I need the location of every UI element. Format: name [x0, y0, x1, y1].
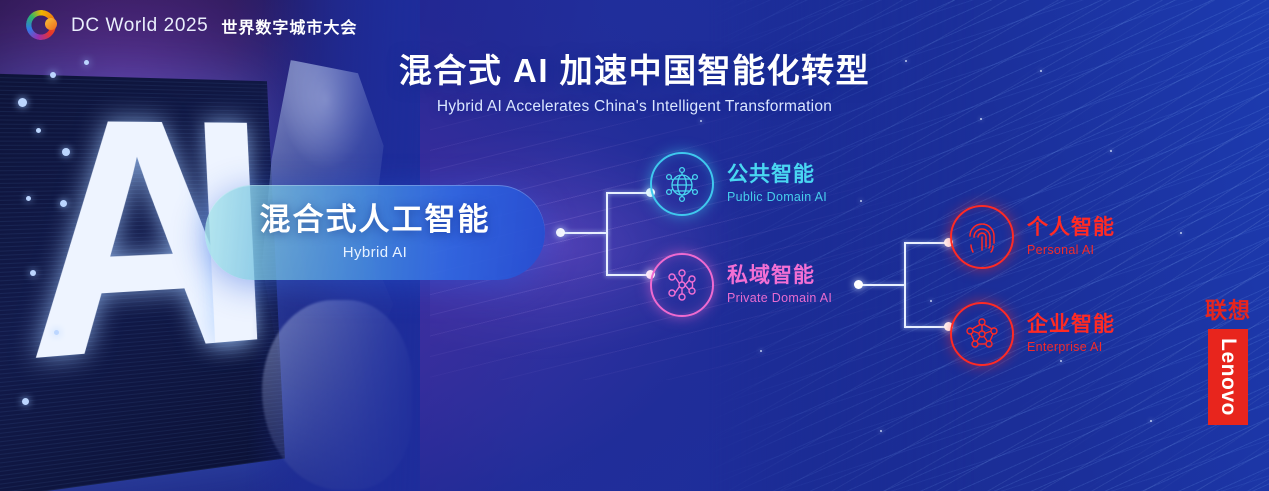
scanline-overlay	[0, 73, 285, 491]
node-label-cn: 个人智能	[1027, 217, 1115, 239]
node-label-en: Public Domain AI	[727, 190, 827, 204]
lenovo-name-en: Lenovo	[1216, 339, 1240, 417]
brand-name-cn: 世界数字城市大会	[221, 14, 357, 38]
ai-screen-graphic: A I	[0, 73, 285, 491]
node-label-cn: 企业智能	[1027, 314, 1115, 336]
lenovo-logo-box: Lenovo	[1208, 329, 1248, 425]
fingerprint-icon	[950, 205, 1014, 269]
lenovo-name-cn: 联想	[1205, 300, 1251, 322]
node-label-cn: 公共智能	[727, 164, 827, 186]
node-label-en: Enterprise AI	[1027, 340, 1115, 354]
node-public-domain-ai[interactable]: 公共智能 Public Domain AI	[650, 152, 827, 216]
neural-network-icon	[650, 253, 714, 317]
brand-name-en: DC World 2025	[71, 15, 208, 37]
center-concept-en: Hybrid AI	[343, 244, 407, 261]
node-enterprise-ai[interactable]: 企业智能 Enterprise AI	[950, 302, 1115, 366]
node-private-domain-ai[interactable]: 私域智能 Private Domain AI	[650, 253, 832, 317]
robot-arm-graphic	[262, 300, 412, 490]
slide-canvas: A I DC World	[0, 0, 1269, 491]
center-concept-cn: 混合式人工智能	[260, 204, 491, 235]
node-label-cn: 私域智能	[727, 265, 832, 287]
node-label-en: Personal AI	[1027, 243, 1115, 257]
lenovo-logo: 联想 Lenovo	[1205, 300, 1251, 425]
mesh-graph-icon	[950, 302, 1014, 366]
header-bar: DC World 2025 世界数字城市大会	[0, 0, 1269, 52]
globe-network-icon	[650, 152, 714, 216]
node-personal-ai[interactable]: 个人智能 Personal AI	[950, 205, 1115, 269]
center-concept-pill[interactable]: 混合式人工智能 Hybrid AI	[205, 185, 545, 280]
dcworld-c-logo-icon	[26, 10, 58, 42]
node-label-en: Private Domain AI	[727, 291, 832, 305]
